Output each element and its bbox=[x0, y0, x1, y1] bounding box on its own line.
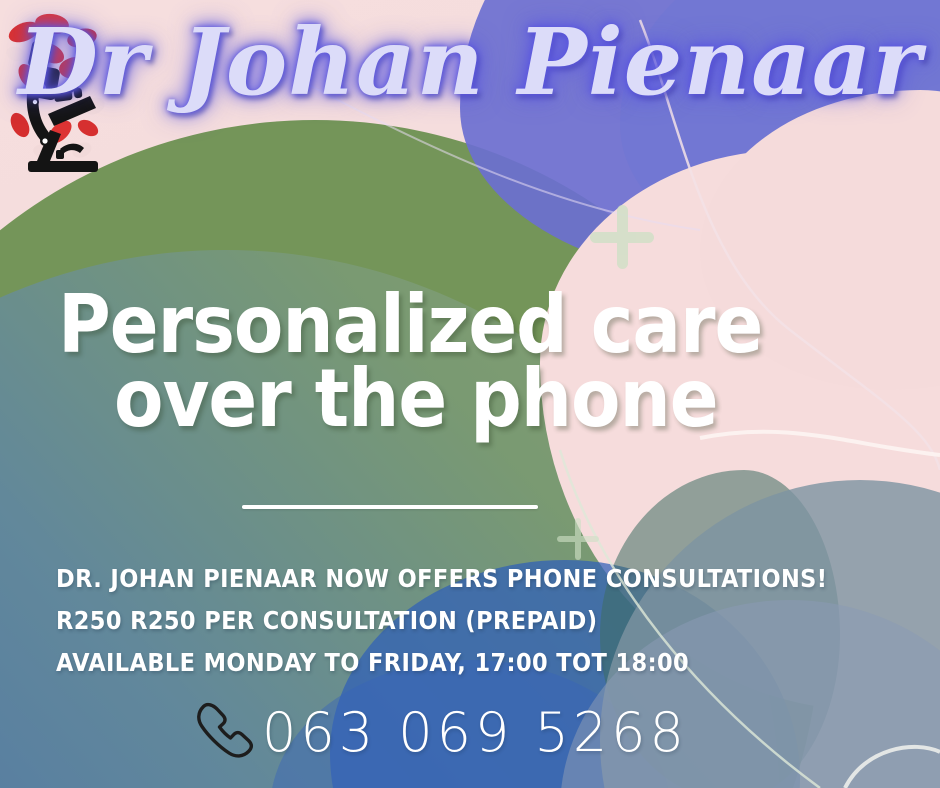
body-line-3: AVAILABLE MONDAY TO FRIDAY, 17:00 TOT 18… bbox=[56, 642, 906, 684]
phone-number: 063 069 5268 bbox=[262, 701, 688, 764]
body-copy: DR. JOHAN PIENAAR NOW OFFERS PHONE CONSU… bbox=[56, 558, 906, 684]
poster-canvas: Dr Johan Pienaar Personalized care over … bbox=[0, 0, 940, 788]
body-line-2: R250 R250 PER CONSULTATION (PREPAID) bbox=[56, 600, 906, 642]
plus-icon-small bbox=[557, 518, 599, 560]
background-green-circle bbox=[0, 120, 820, 788]
contact-phone-row[interactable]: 063 069 5268 bbox=[192, 694, 688, 770]
plus-icon-large bbox=[590, 205, 654, 269]
headline: Personalized care over the phone bbox=[58, 288, 778, 437]
headline-line-2: over the phone bbox=[114, 362, 778, 436]
page-title: Dr Johan Pienaar bbox=[0, 8, 940, 116]
phone-handset-icon bbox=[192, 698, 260, 766]
body-line-1: DR. JOHAN PIENAAR NOW OFFERS PHONE CONSU… bbox=[56, 558, 906, 600]
divider-rule bbox=[242, 505, 538, 509]
